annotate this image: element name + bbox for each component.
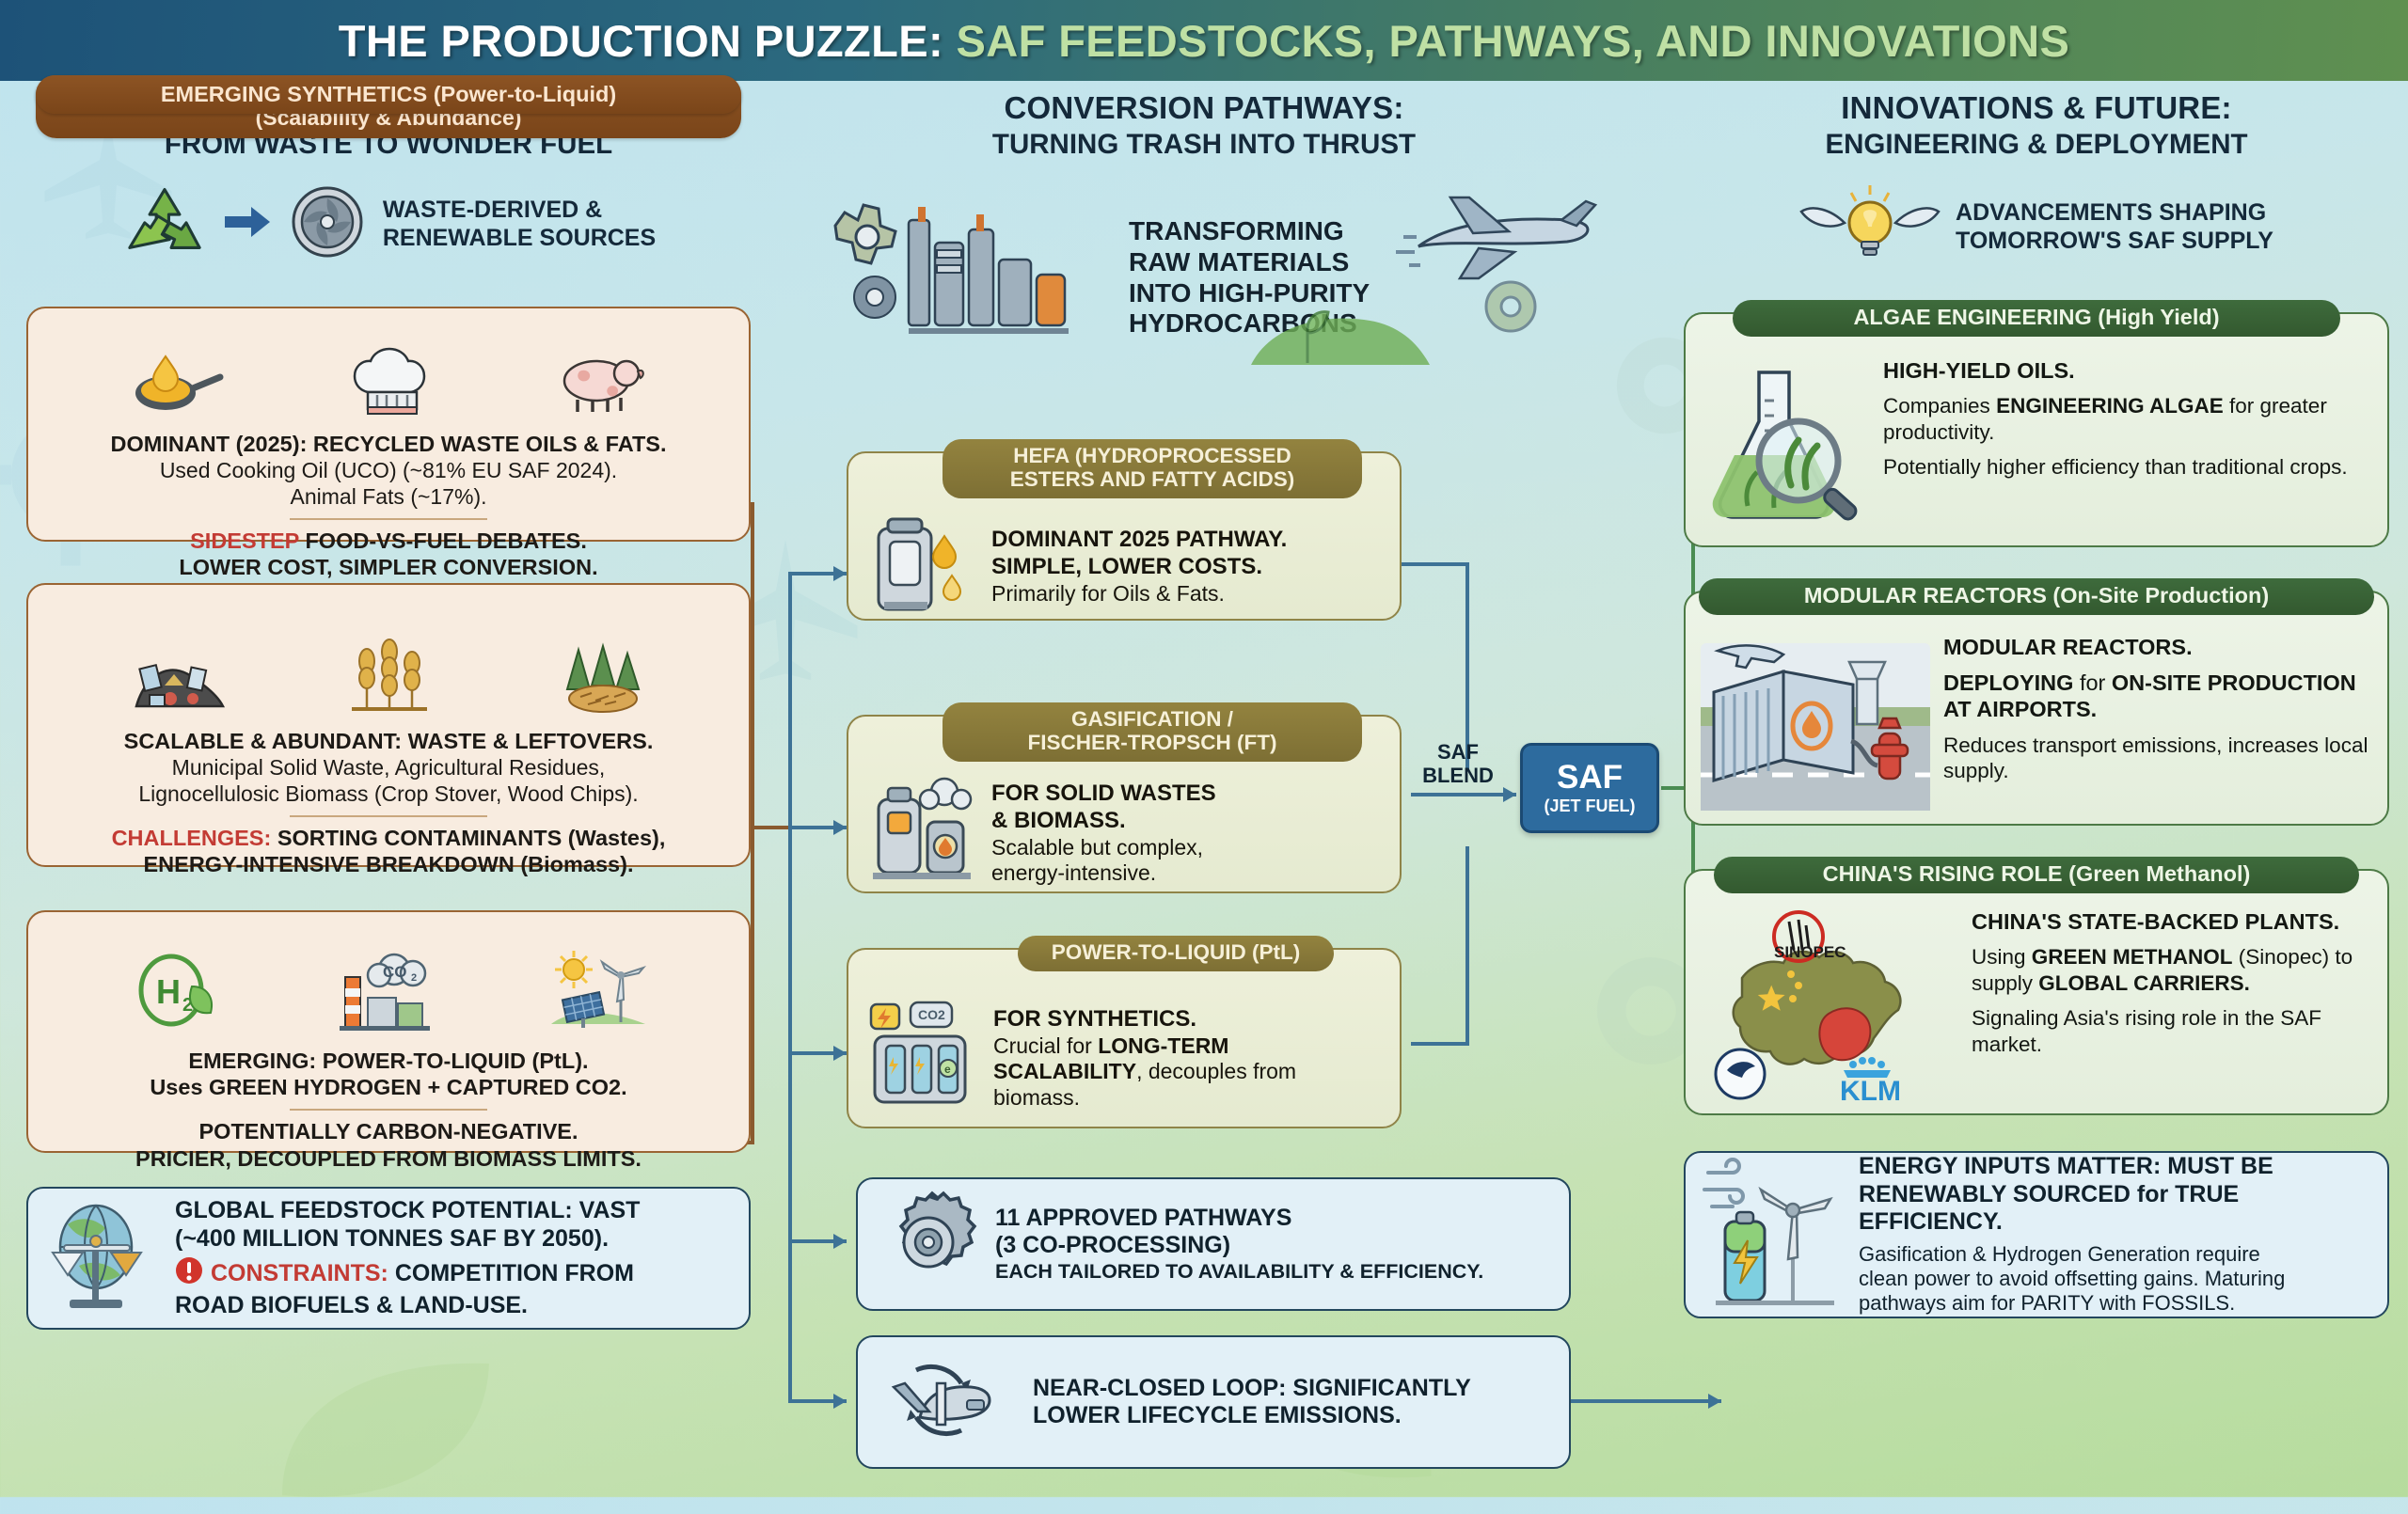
reactor-droplets-icon (865, 508, 976, 625)
emerging-icon-row: H 2 CO 2 (71, 952, 705, 1038)
wheat-stalks-icon (346, 639, 433, 718)
china-hl1: CHINA'S STATE-BACKED PLANTS. (1972, 908, 2372, 935)
energy-inputs-note3: pathways aim for PARITY with FOSSILS. (1859, 1291, 2285, 1316)
middle-column: CONVERSION PATHWAYS: TURNING TRASH INTO … (781, 90, 1627, 161)
right-column: INNOVATIONS & FUTURE: ENGINEERING & DEPL… (1684, 90, 2389, 1318)
near-closed-loop-line2: LOWER LIFECYCLE EMISSIONS. (1033, 1402, 1471, 1430)
global-feedstock-text: GLOBAL FEEDSTOCK POTENTIAL: VAST (~400 M… (175, 1197, 640, 1319)
page-title: THE PRODUCTION PUZZLE: SAF FEEDSTOCKS, P… (339, 15, 2069, 67)
battery-wind-turbine-icon (1703, 1158, 1844, 1313)
electrolyzer-co2-icon: CO2 e (865, 995, 978, 1122)
oils-fats-hl1: DOMINANT (2025): RECYCLED WASTE OILS & F… (43, 431, 734, 457)
right-heading-line1: INNOVATIONS & FUTURE: (1684, 90, 2389, 126)
left-icon-label: WASTE-DERIVED & RENEWABLE SOURCES (383, 197, 656, 252)
approved-pathways-line1: 11 APPROVED PATHWAYS (995, 1205, 1483, 1233)
middle-heading-line2: TURNING TRASH INTO THRUST (781, 129, 1627, 161)
pathway-tab-hefa-l1: HEFA (HYDROPROCESSED (956, 445, 1349, 468)
global-feedstock-line1: GLOBAL FEEDSTOCK POTENTIAL: VAST (175, 1197, 640, 1225)
hefa-reg1: Primarily for Oils & Fats. (991, 581, 1287, 607)
gasifier-tanks-icon (865, 771, 976, 896)
approved-pathways-bar[interactable]: 11 APPROVED PATHWAYS (3 CO-PROCESSING) E… (856, 1177, 1571, 1311)
innovation-card-algae[interactable]: ALGAE ENGINEERING (High Yield) HIGH-YIEL… (1684, 312, 2389, 547)
jet-turbine-icon (287, 181, 368, 267)
greenery-icon (1251, 282, 1430, 371)
near-closed-loop-bar[interactable]: NEAR-CLOSED LOOP: SIGNIFICANTLY LOWER LI… (856, 1335, 1571, 1469)
china-p1-b2: GLOBAL CARRIERS. (2038, 971, 2250, 995)
ft-reg2: energy-intensive. (991, 860, 1216, 887)
lufthansa-crane-logo (1716, 1049, 1765, 1098)
page-header: THE PRODUCTION PUZZLE: SAF FEEDSTOCKS, P… (0, 0, 2408, 81)
solid-wastes-body: SCALABLE & ABUNDANT: WASTE & LEFTOVERS. … (43, 728, 734, 878)
emerging-body: EMERGING: POWER-TO-LIQUID (PtL). Uses GR… (43, 1048, 734, 1172)
near-closed-loop-line1: NEAR-CLOSED LOOP: SIGNIFICANTLY (1033, 1375, 1471, 1403)
oils-fats-reg2: Animal Fats (~17%). (43, 483, 734, 510)
klm-logo: KLM (1840, 1057, 1901, 1107)
global-feedstock-line3-rest: COMPETITION FROM (388, 1260, 634, 1286)
shipping-container-airport-icon (1701, 634, 1930, 817)
divider (290, 1109, 487, 1111)
svg-text:H: H (156, 972, 181, 1011)
feedstock-card-solid-wastes[interactable]: SOLID WASTES & LIGNOCELLULOSIC BIOMASS (… (26, 583, 751, 867)
modular-hl2-mid: for (2073, 670, 2111, 695)
alert-exclamation-icon (175, 1256, 203, 1292)
solid-wastes-icon-row (71, 641, 705, 718)
oils-fats-reg1: Used Cooking Oil (UCO) (~81% EU SAF 2024… (43, 457, 734, 483)
left-icon-label-line2: RENEWABLE SOURCES (383, 225, 656, 253)
approved-pathways-line3: EACH TAILORED TO AVAILABILITY & EFFICIEN… (995, 1260, 1483, 1284)
algae-p1: Companies ENGINEERING ALGAE for greater … (1883, 393, 2372, 445)
global-feedstock-line4: ROAD BIOFUELS & LAND-USE. (175, 1292, 640, 1320)
pathway-tab-ft-l1: GASIFICATION / (956, 708, 1349, 732)
refinery-plant-icon (818, 188, 1138, 362)
approved-pathways-text: 11 APPROVED PATHWAYS (3 CO-PROCESSING) E… (995, 1205, 1483, 1284)
middle-column-heading: CONVERSION PATHWAYS: TURNING TRASH INTO … (781, 90, 1627, 161)
divider (290, 815, 487, 817)
global-feedstock-line3: CONSTRAINTS: COMPETITION FROM (175, 1256, 640, 1292)
page-title-part2: SAF FEEDSTOCKS, PATHWAYS, AND INNOVATION… (943, 16, 2069, 66)
forest-woodchips-icon (547, 639, 648, 718)
china-p1-b: GREEN METHANOL (2032, 945, 2233, 969)
left-column: FEEDSTOCK FRONTIERS: FROM WASTE TO WONDE… (26, 90, 751, 1330)
sinopec-logo: SINOPEC (1774, 912, 1846, 961)
divider (290, 518, 487, 520)
gear-icon (877, 1191, 980, 1299)
pathway-tab-ptl: POWER-TO-LIQUID (PtL) (1018, 936, 1334, 971)
left-icon-label-line1: WASTE-DERIVED & (383, 197, 656, 225)
pathway-card-ptl[interactable]: POWER-TO-LIQUID (PtL) CO2 e FOR SYNTHE (847, 948, 1402, 1128)
emerging-reg1: Uses GREEN HYDROGEN + CAPTURED CO2. (43, 1074, 734, 1100)
green-hydrogen-icon: H 2 (130, 949, 220, 1038)
saf-blend-label-l2: BLEND (1402, 765, 1514, 788)
algae-row: HIGH-YIELD OILS. Companies ENGINEERING A… (1701, 344, 2372, 539)
china-p1-pre: Using (1972, 945, 2032, 969)
ptl-hl1: FOR SYNTHETICS. (993, 1006, 1383, 1033)
pathway-card-hefa[interactable]: HEFA (HYDROPROCESSED ESTERS AND FATTY AC… (847, 451, 1402, 621)
pathway-tab-ptl-l1: POWER-TO-LIQUID (PtL) (1031, 941, 1321, 965)
waste-pile-icon (129, 642, 232, 718)
feedstock-card-oils-fats[interactable]: OILS AND FATS (Dominant Today) (26, 307, 751, 542)
pathway-tab-hefa: HEFA (HYDROPROCESSED ESTERS AND FATTY AC… (943, 439, 1362, 498)
algae-p1-bold: ENGINEERING ALGAE (1996, 394, 2224, 418)
co2-capture-plant-icon: CO 2 (336, 949, 434, 1038)
pathway-body-ft: FOR SOLID WASTES & BIOMASS. Scalable but… (991, 781, 1216, 887)
oils-fats-body: DOMINANT (2025): RECYCLED WASTE OILS & F… (43, 431, 734, 581)
pathway-card-gasification-ft[interactable]: GASIFICATION / FISCHER-TROPSCH (FT) FOR … (847, 715, 1402, 893)
frying-pan-oil-icon (132, 351, 233, 421)
china-p2: Signaling Asia's rising role in the SAF … (1972, 1005, 2372, 1057)
china-p1: Using GREEN METHANOL (Sinopec) to supply… (1972, 944, 2372, 996)
right-icon-label-line1: ADVANCEMENTS SHAPING (1956, 199, 2273, 228)
modular-row: MODULAR REACTORS. DEPLOYING for ON-SITE … (1701, 623, 2372, 817)
innovation-card-modular-reactors[interactable]: MODULAR REACTORS (On-Site Production) (1684, 591, 2389, 826)
modular-p2: Reduces transport emissions, increases l… (1943, 733, 2372, 784)
innovation-card-china[interactable]: CHINA'S RISING ROLE (Green Methanol) SIN… (1684, 869, 2389, 1115)
energy-inputs-bar[interactable]: ENERGY INPUTS MATTER: MUST BE RENEWABLY … (1684, 1151, 2389, 1318)
global-feedstock-line2: (~400 MILLION TONNES SAF BY 2050). (175, 1225, 640, 1254)
ft-hl2: & BIOMASS. (991, 808, 1216, 835)
middle-hero-illustration: TRANSFORMING RAW MATERIALS INTO HIGH-PUR… (828, 188, 1618, 367)
emerging-hl3: PRICIER, DECOUPLED FROM BIOMASS LIMITS. (43, 1145, 734, 1172)
innovation-tab-china: CHINA'S RISING ROLE (Green Methanol) (1714, 857, 2359, 893)
algae-text: HIGH-YIELD OILS. Companies ENGINEERING A… (1883, 357, 2372, 490)
recycle-icon (121, 186, 208, 262)
solid-wastes-hl2-rest: SORTING CONTAMINANTS (Wastes), (271, 826, 665, 850)
algae-hl1: HIGH-YIELD OILS. (1883, 357, 2372, 384)
ptl-reg: Crucial for LONG-TERM SCALABILITY, decou… (993, 1033, 1383, 1112)
energy-inputs-line1: ENERGY INPUTS MATTER: MUST BE (1859, 1153, 2285, 1181)
china-map-icon: SINOPEC KLM (1701, 908, 1964, 1112)
energy-inputs-note1: Gasification & Hydrogen Generation requi… (1859, 1242, 2285, 1267)
modular-hl2-b1: DEPLOYING (1943, 670, 2073, 695)
hefa-hl2: SIMPLE, LOWER COSTS. (991, 554, 1287, 581)
algae-flask-magnifier-icon (1701, 357, 1870, 539)
pathway-tab-ft-l2: FISCHER-TROPSCH (FT) (956, 732, 1349, 755)
oils-fats-hl3: LOWER COST, SIMPLER CONVERSION. (43, 554, 734, 580)
saf-hub-node[interactable]: SAF (JET FUEL) (1520, 743, 1659, 833)
cow-icon (551, 351, 645, 421)
emerging-hl1: EMERGING: POWER-TO-LIQUID (PtL). (43, 1048, 734, 1074)
near-closed-loop-text: NEAR-CLOSED LOOP: SIGNIFICANTLY LOWER LI… (1033, 1375, 1471, 1430)
algae-p2: Potentially higher efficiency than tradi… (1883, 454, 2372, 480)
energy-inputs-note2: clean power to avoid offsetting gains. M… (1859, 1267, 2285, 1291)
svg-text:KLM: KLM (1840, 1076, 1901, 1107)
oils-fats-accent: SIDESTEP (190, 528, 299, 553)
solar-wind-icon (549, 949, 647, 1038)
innovation-tab-algae-label: ALGAE ENGINEERING (High Yield) (1853, 305, 2219, 329)
ft-hl1: FOR SOLID WASTES (991, 781, 1216, 808)
card-tab-emerging-synthetics: EMERGING SYNTHETICS (Power-to-Liquid) (36, 75, 741, 114)
energy-inputs-text: ENERGY INPUTS MATTER: MUST BE RENEWABLY … (1859, 1153, 2285, 1317)
global-feedstock-accent: CONSTRAINTS: (211, 1260, 388, 1286)
left-icon-row: WASTE-DERIVED & RENEWABLE SOURCES (26, 181, 751, 267)
saf-hub-subtitle: (JET FUEL) (1545, 796, 1636, 816)
modular-text: MODULAR REACTORS. DEPLOYING for ON-SITE … (1943, 634, 2372, 793)
svg-text:SINOPEC: SINOPEC (1774, 943, 1846, 961)
page-title-part1: THE PRODUCTION PUZZLE: (339, 16, 943, 66)
solid-wastes-reg1: Municipal Solid Waste, Agricultural Resi… (43, 754, 734, 781)
energy-inputs-line3: EFFICIENCY. (1859, 1208, 2285, 1237)
ptl-reg-pre: Crucial for (993, 1033, 1098, 1058)
china-row: SINOPEC KLM CHINA'S STATE-BACKED PLANTS.… (1701, 901, 2372, 1112)
svg-text:CO: CO (383, 963, 407, 981)
gear-icon (1477, 273, 1545, 345)
saf-hub-title: SAF (1557, 761, 1623, 794)
emerging-hl2: POTENTIALLY CARBON-NEGATIVE. (43, 1118, 734, 1144)
approved-pathways-line2: (3 CO-PROCESSING) (995, 1232, 1483, 1260)
feedstock-card-emerging-synthetics[interactable]: EMERGING SYNTHETICS (Power-to-Liquid) H … (26, 910, 751, 1153)
right-heading-line2: ENGINEERING & DEPLOYMENT (1684, 129, 2389, 161)
oils-fats-icon-row (71, 348, 705, 421)
svg-text:2: 2 (411, 972, 417, 984)
saf-blend-label-l1: SAF (1402, 741, 1514, 765)
oils-fats-hl2: SIDESTEP FOOD-VS-FUEL DEBATES. (43, 528, 734, 554)
pathway-tab-ft: GASIFICATION / FISCHER-TROPSCH (FT) (943, 702, 1362, 762)
modular-hl1: MODULAR REACTORS. (1943, 634, 2372, 660)
solid-wastes-hl2: CHALLENGES: SORTING CONTAMINANTS (Wastes… (43, 825, 734, 851)
algae-p1-pre: Companies (1883, 394, 1996, 418)
innovation-tab-algae: ALGAE ENGINEERING (High Yield) (1733, 300, 2340, 337)
globe-scales-icon (47, 1200, 160, 1317)
china-text: CHINA'S STATE-BACKED PLANTS. Using GREEN… (1972, 908, 2372, 1066)
right-icon-label: ADVANCEMENTS SHAPING TOMORROW'S SAF SUPP… (1956, 199, 2273, 255)
solid-wastes-hl1: SCALABLE & ABUNDANT: WASTE & LEFTOVERS. (43, 728, 734, 754)
right-column-heading: INNOVATIONS & FUTURE: ENGINEERING & DEPL… (1684, 90, 2389, 161)
winged-lightbulb-icon (1799, 181, 1941, 273)
solid-wastes-hl3: ENERGY-INTENSIVE BREAKDOWN (Biomass). (43, 851, 734, 877)
saf-blend-label: SAF BLEND (1402, 741, 1514, 787)
ft-reg1: Scalable but complex, (991, 835, 1216, 861)
pathway-body-ptl: FOR SYNTHETICS. Crucial for LONG-TERM SC… (993, 1006, 1383, 1112)
svg-text:e: e (944, 1063, 951, 1076)
solid-wastes-accent: CHALLENGES: (112, 826, 272, 850)
solid-wastes-reg2: Lignocellulosic Biomass (Crop Stover, Wo… (43, 781, 734, 807)
right-icon-label-line2: TOMORROW'S SAF SUPPLY (1956, 228, 2273, 256)
airplane-loop-icon (877, 1344, 1018, 1461)
ghost-leaf-bottom (263, 1345, 508, 1514)
right-icon-row: ADVANCEMENTS SHAPING TOMORROW'S SAF SUPP… (1684, 181, 2389, 273)
modular-hl2: DEPLOYING for ON-SITE PRODUCTION AT AIRP… (1943, 670, 2372, 722)
middle-heading-line1: CONVERSION PATHWAYS: (781, 90, 1627, 126)
card-tab-emerging-synthetics-label: EMERGING SYNTHETICS (Power-to-Liquid) (161, 82, 616, 106)
global-feedstock-potential-bar[interactable]: GLOBAL FEEDSTOCK POTENTIAL: VAST (~400 M… (26, 1187, 751, 1330)
pathway-tab-hefa-l2: ESTERS AND FATTY ACIDS) (956, 468, 1349, 492)
innovation-tab-modular: MODULAR REACTORS (On-Site Production) (1699, 578, 2374, 615)
energy-inputs-line2: RENEWABLY SOURCED for TRUE (1859, 1181, 2285, 1209)
innovation-tab-modular-label: MODULAR REACTORS (On-Site Production) (1804, 583, 2269, 607)
arrow-right-icon (223, 203, 272, 245)
svg-text:CO2: CO2 (918, 1007, 945, 1022)
oils-fats-hl2-rest: FOOD-VS-FUEL DEBATES. (299, 528, 587, 553)
hefa-hl1: DOMINANT 2025 PATHWAY. (991, 527, 1287, 554)
chef-hat-icon (353, 347, 432, 421)
innovation-tab-china-label: CHINA'S RISING ROLE (Green Methanol) (1823, 861, 2251, 886)
pathway-body-hefa: DOMINANT 2025 PATHWAY. SIMPLE, LOWER COS… (991, 527, 1287, 607)
